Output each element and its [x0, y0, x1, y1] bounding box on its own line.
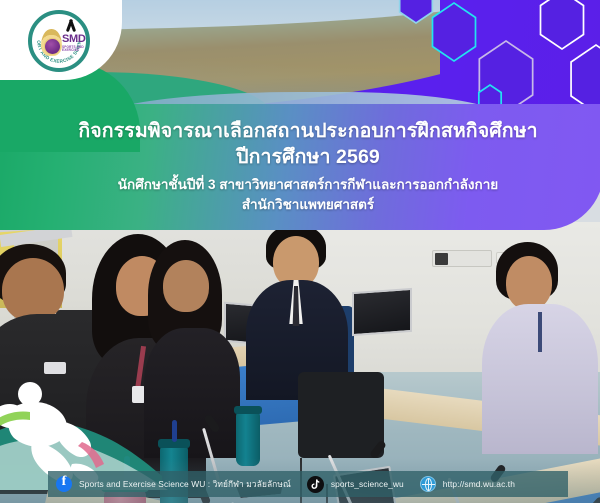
logo-abbrev-sub: SPORTS AND EXERCISE: [62, 46, 89, 52]
person-head: [2, 258, 64, 322]
facebook-icon: [56, 476, 72, 492]
wall-outlet: [432, 250, 492, 267]
person-head: [163, 260, 209, 312]
person-head: [506, 256, 552, 310]
hexagon-icon: [536, 0, 588, 50]
tiktok-icon: [307, 476, 324, 493]
shirt-logo: [44, 362, 66, 374]
mourning-ribbon-icon: [65, 19, 77, 33]
subtitle-line-1: นักศึกษาชั้นปีที่ 3 สาขาวิทยาศาสตร์การกี…: [118, 175, 498, 194]
website-link[interactable]: http://smd.wu.ac.th: [404, 476, 515, 492]
website-label: http://smd.wu.ac.th: [443, 479, 515, 489]
organization-logo: SPORT AND EXERCISE SCIENCE SMD› SPORTS A…: [28, 10, 90, 72]
title-block: กิจกรรมพิจารณาเลือกสถานประกอบการฝึกสหกิจ…: [10, 104, 600, 230]
poster-graphic: SPORT AND EXERCISE SCIENCE SMD› SPORTS A…: [0, 0, 600, 503]
logo-abbrev: SMD› SPORTS AND EXERCISE: [62, 34, 89, 52]
lanyard: [538, 312, 542, 352]
facebook-link[interactable]: Sports and Exercise Science WU : วิทย์กี…: [56, 476, 291, 492]
title-line-1: กิจกรรมพิจารณาเลือกสถานประกอบการฝึกสหกิจ…: [78, 118, 537, 144]
subtitle-line-2: สำนักวิชาแพทยศาสตร์: [242, 195, 374, 214]
tumbler-lid: [234, 406, 262, 414]
tiktok-link[interactable]: sports_science_wu: [291, 476, 404, 493]
office-chair: [298, 372, 384, 458]
monitor-screen: [352, 288, 412, 336]
facebook-label: Sports and Exercise Science WU : วิทย์กี…: [79, 477, 291, 491]
title-line-2: ปีการศึกษา 2569: [236, 144, 380, 170]
tiktok-label: sports_science_wu: [331, 479, 404, 489]
hexagon-icon: [566, 44, 600, 108]
hexagon-icon: [428, 2, 480, 62]
university-seal-icon: [41, 29, 62, 56]
globe-icon: [420, 476, 436, 492]
social-footer-bar: Sports and Exercise Science WU : วิทย์กี…: [48, 471, 568, 497]
